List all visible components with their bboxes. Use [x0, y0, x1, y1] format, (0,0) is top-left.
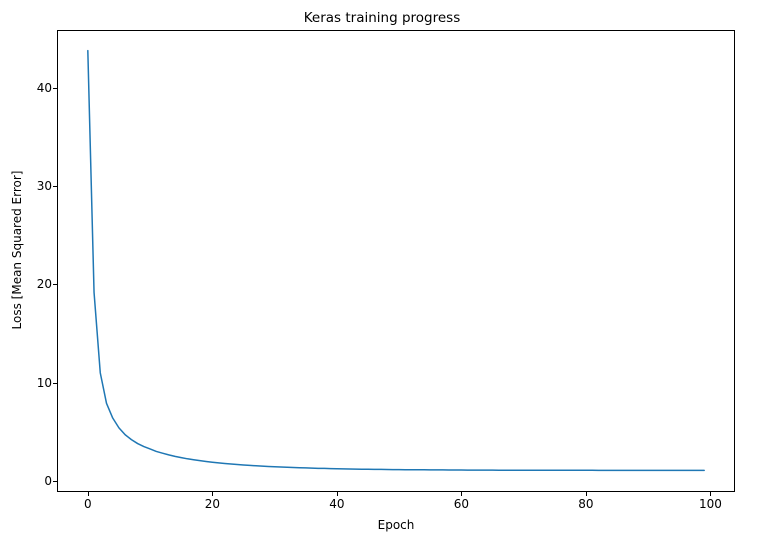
chart-title: Keras training progress — [0, 10, 764, 26]
x-tick-mark — [337, 492, 338, 496]
loss-line — [88, 51, 704, 471]
y-tick-label: 20 — [37, 277, 52, 291]
x-tick-mark — [461, 492, 462, 496]
y-tick-label: 40 — [37, 81, 52, 95]
x-tick-label: 100 — [699, 497, 722, 511]
y-tick-mark — [53, 88, 57, 89]
x-tick-label: 0 — [84, 497, 92, 511]
y-tick-mark — [53, 284, 57, 285]
x-tick-mark — [586, 492, 587, 496]
y-tick-label: 10 — [37, 376, 52, 390]
loss-curve-svg — [57, 30, 735, 492]
y-tick-mark — [53, 186, 57, 187]
x-tick-mark — [88, 492, 89, 496]
y-tick-label: 0 — [44, 474, 52, 488]
plot-area — [57, 30, 735, 492]
x-tick-mark — [710, 492, 711, 496]
x-axis-label: Epoch — [57, 518, 735, 532]
x-tick-label: 20 — [205, 497, 220, 511]
x-tick-mark — [212, 492, 213, 496]
y-tick-mark — [53, 481, 57, 482]
x-tick-label: 40 — [329, 497, 344, 511]
y-tick-label: 30 — [37, 179, 52, 193]
x-tick-label: 60 — [454, 497, 469, 511]
y-axis-label: Loss [Mean Squared Error] — [10, 140, 24, 360]
y-tick-mark — [53, 383, 57, 384]
figure-canvas: Keras training progress 020406080100 010… — [0, 0, 764, 547]
x-tick-label: 80 — [578, 497, 593, 511]
